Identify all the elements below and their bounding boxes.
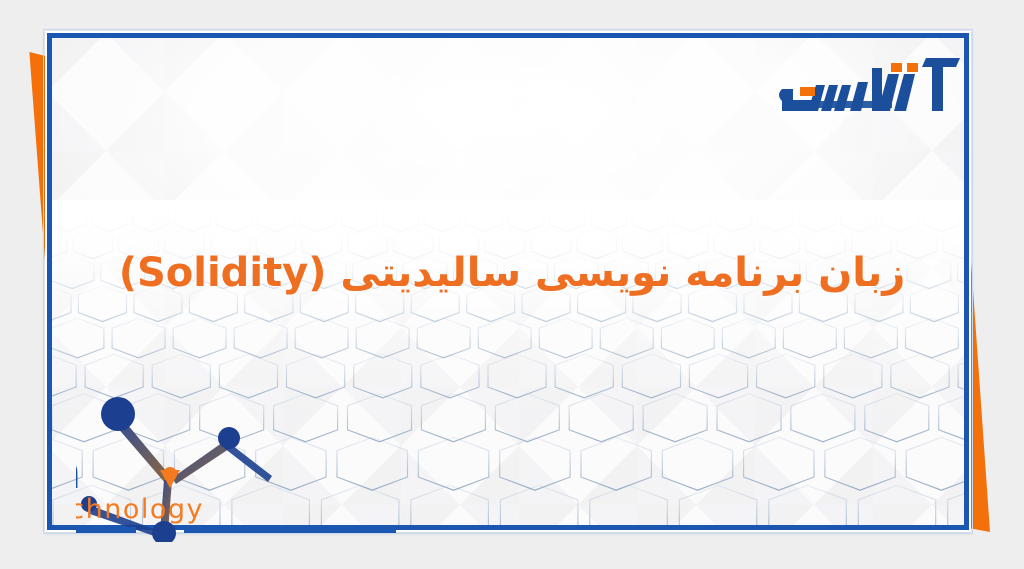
technology-wordmark: technology xyxy=(76,494,204,525)
slide-title: زبان برنامه نویسی ساليديتی (Solidity) xyxy=(0,248,1024,298)
network-node xyxy=(218,427,240,449)
blockchain-wordmark: blockchain xyxy=(76,445,80,499)
blockchain-technology-logo: blockchain technology xyxy=(76,392,396,542)
presentation-slide: زبان برنامه نویسی ساليديتی (Solidity) xyxy=(0,0,1024,569)
network-node xyxy=(101,397,135,431)
brand-logo-arza-rasaneh xyxy=(776,52,972,130)
